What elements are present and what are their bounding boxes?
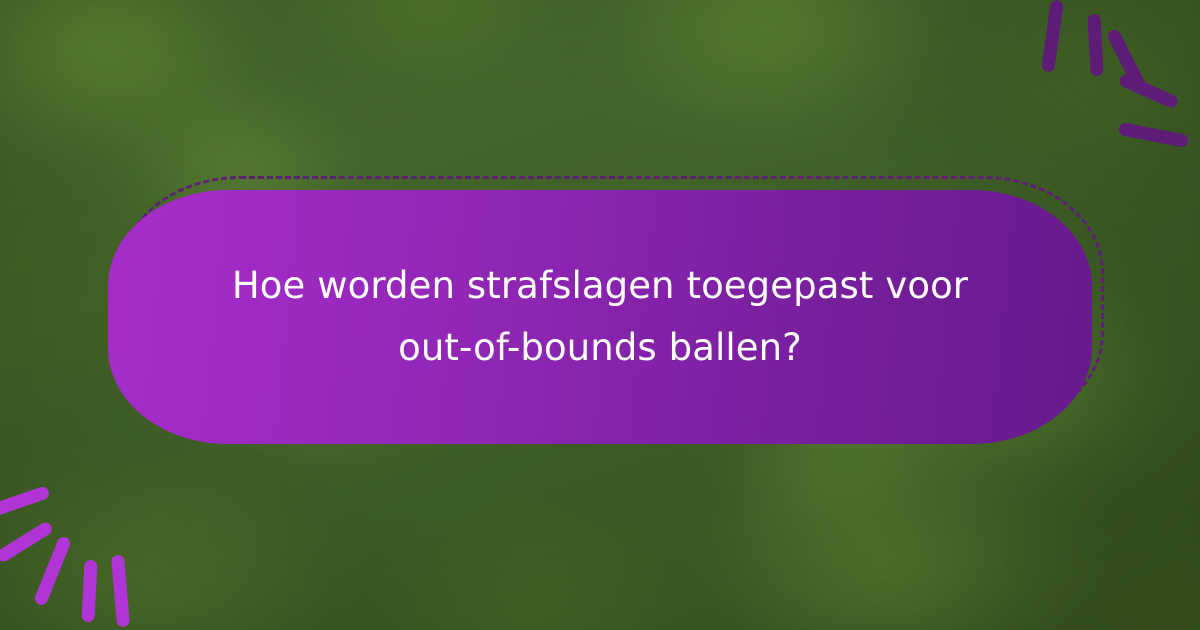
question-card-stage: Hoe worden strafslagen toegepast voor ou… xyxy=(108,190,1092,444)
sparkle-ray xyxy=(0,520,54,564)
question-card[interactable]: Hoe worden strafslagen toegepast voor ou… xyxy=(108,190,1092,444)
question-text: Hoe worden strafslagen toegepast voor ou… xyxy=(150,255,1050,379)
sparkle-burst-top-right-icon xyxy=(1014,0,1200,169)
sparkle-ray xyxy=(1118,122,1189,148)
sparkle-ray xyxy=(1087,14,1103,77)
sparkle-ray xyxy=(111,555,130,628)
sparkle-ray xyxy=(0,485,51,521)
sparkle-ray xyxy=(81,560,97,623)
sparkle-burst-bottom-left-icon xyxy=(0,463,174,630)
sparkle-ray xyxy=(1118,72,1180,109)
sparkle-ray xyxy=(1041,0,1064,73)
sparkle-ray xyxy=(33,535,72,607)
